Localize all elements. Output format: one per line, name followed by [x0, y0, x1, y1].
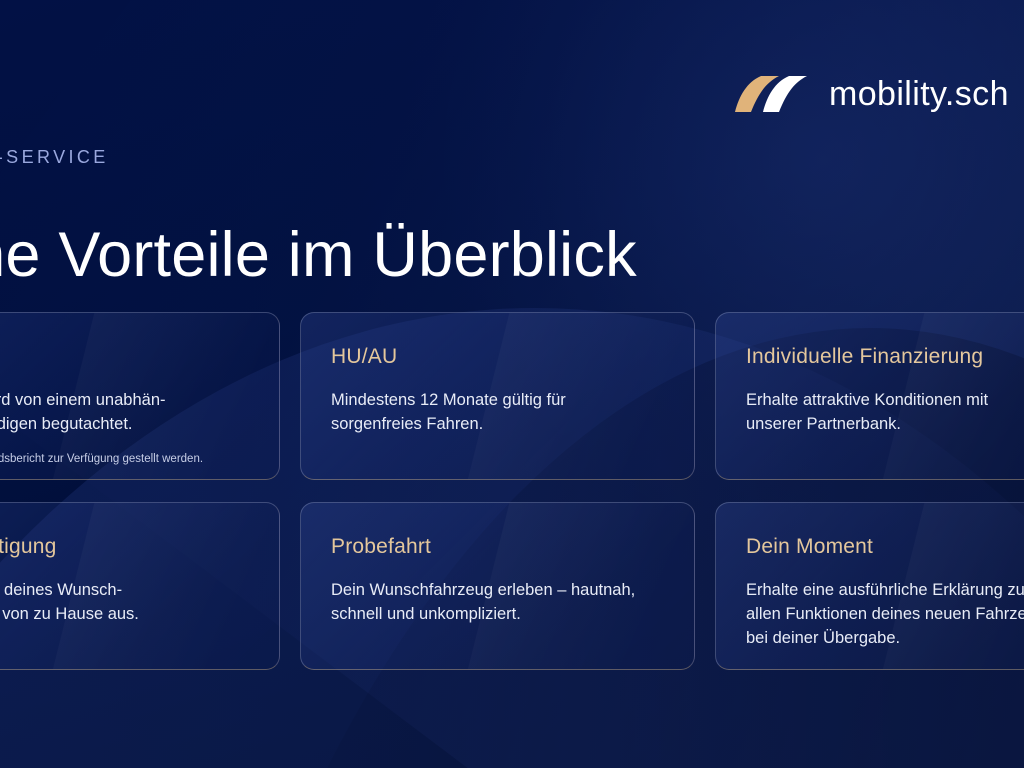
benefit-card-body: Dein Wunschfahrzeug erleben – hautnah, s… [331, 579, 664, 627]
benefits-card-grid: parenz ahrzeug wird von einem unabhän- a… [0, 312, 1024, 670]
benefit-card[interactable]: Individuelle Finanzierung Erhalte attrak… [715, 312, 1024, 480]
eyebrow-label: UM-SERVICE [0, 147, 109, 168]
benefit-card[interactable]: e Besichtigung esichtigung deines Wunsch… [0, 502, 280, 670]
benefit-card-body: ahrzeug wird von einem unabhän- achverst… [0, 389, 249, 437]
benefit-card[interactable]: parenz ahrzeug wird von einem unabhän- a… [0, 312, 280, 480]
benefit-card[interactable]: HU/AU Mindestens 12 Monate gültig für so… [300, 312, 695, 480]
benefit-card-body: esichtigung deines Wunsch- gs bequem von… [0, 579, 249, 627]
presentation-slide: mobility.sch UM-SERVICE ine Vorteile im … [0, 0, 1024, 768]
benefit-card-title: Dein Moment [746, 535, 1024, 559]
page-title: ine Vorteile im Überblick [0, 220, 637, 291]
brand-logo[interactable]: mobility.sch [733, 72, 1009, 116]
benefit-card-title: Individuelle Finanzierung [746, 345, 1024, 369]
benefit-card-body: Erhalte attraktive Konditionen mit unser… [746, 389, 1024, 437]
benefit-card-note: kann ein Zustandsbericht zur Verfügung g… [0, 451, 249, 467]
benefit-card-title: parenz [0, 345, 249, 369]
benefit-card[interactable]: Probefahrt Dein Wunschfahrzeug erleben –… [300, 502, 695, 670]
benefit-card-title: e Besichtigung [0, 535, 249, 559]
benefit-card-body: Erhalte eine ausführliche Erklärung zu a… [746, 579, 1024, 651]
mobility-double-slash-logo-icon [733, 72, 807, 116]
brand-wordmark: mobility.sch [829, 77, 1009, 111]
benefit-card-title: HU/AU [331, 345, 664, 369]
benefit-card-title: Probefahrt [331, 535, 664, 559]
benefit-card[interactable]: Dein Moment Erhalte eine ausführliche Er… [715, 502, 1024, 670]
benefit-card-body: Mindestens 12 Monate gültig für sorgenfr… [331, 389, 664, 437]
